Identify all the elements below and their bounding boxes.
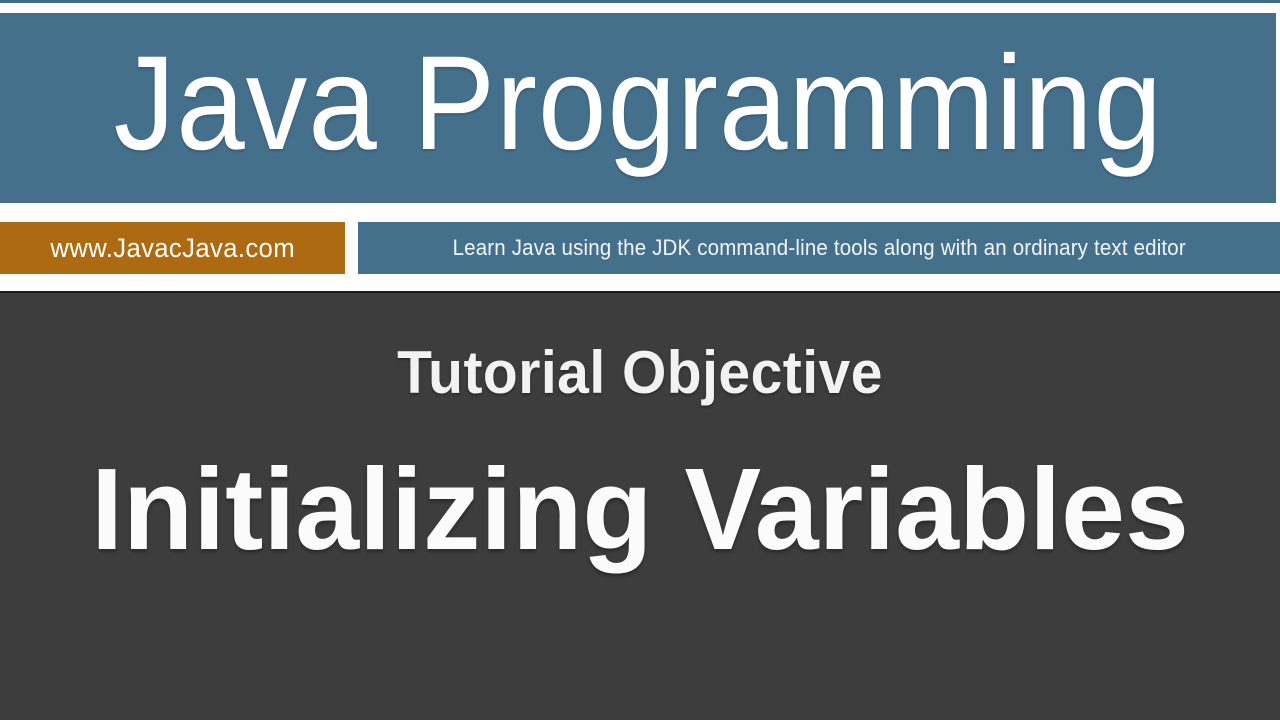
tutorial-objective-kicker: Tutorial Objective	[32, 343, 1248, 403]
website-url-chip[interactable]: www.JavacJava.com	[0, 222, 345, 274]
header-banner: Java Programming	[0, 13, 1276, 203]
top-accent-rule	[0, 0, 1280, 3]
tutorial-slide: Java Programming www.JavacJava.com Learn…	[0, 0, 1280, 720]
content-stage-inner: Tutorial Objective Initializing Variable…	[0, 293, 1280, 720]
sub-banner-divider	[345, 222, 358, 274]
course-title: Java Programming	[113, 37, 1162, 179]
website-url-label: www.JavacJava.com	[50, 233, 295, 264]
tutorial-topic-title: Initializing Variables	[6, 451, 1273, 567]
tagline-label: Learn Java using the JDK command-line to…	[452, 235, 1185, 261]
sub-banner-row: www.JavacJava.com Learn Java using the J…	[0, 222, 1280, 274]
tagline-banner: Learn Java using the JDK command-line to…	[358, 222, 1280, 274]
content-stage: Tutorial Objective Initializing Variable…	[0, 291, 1280, 720]
